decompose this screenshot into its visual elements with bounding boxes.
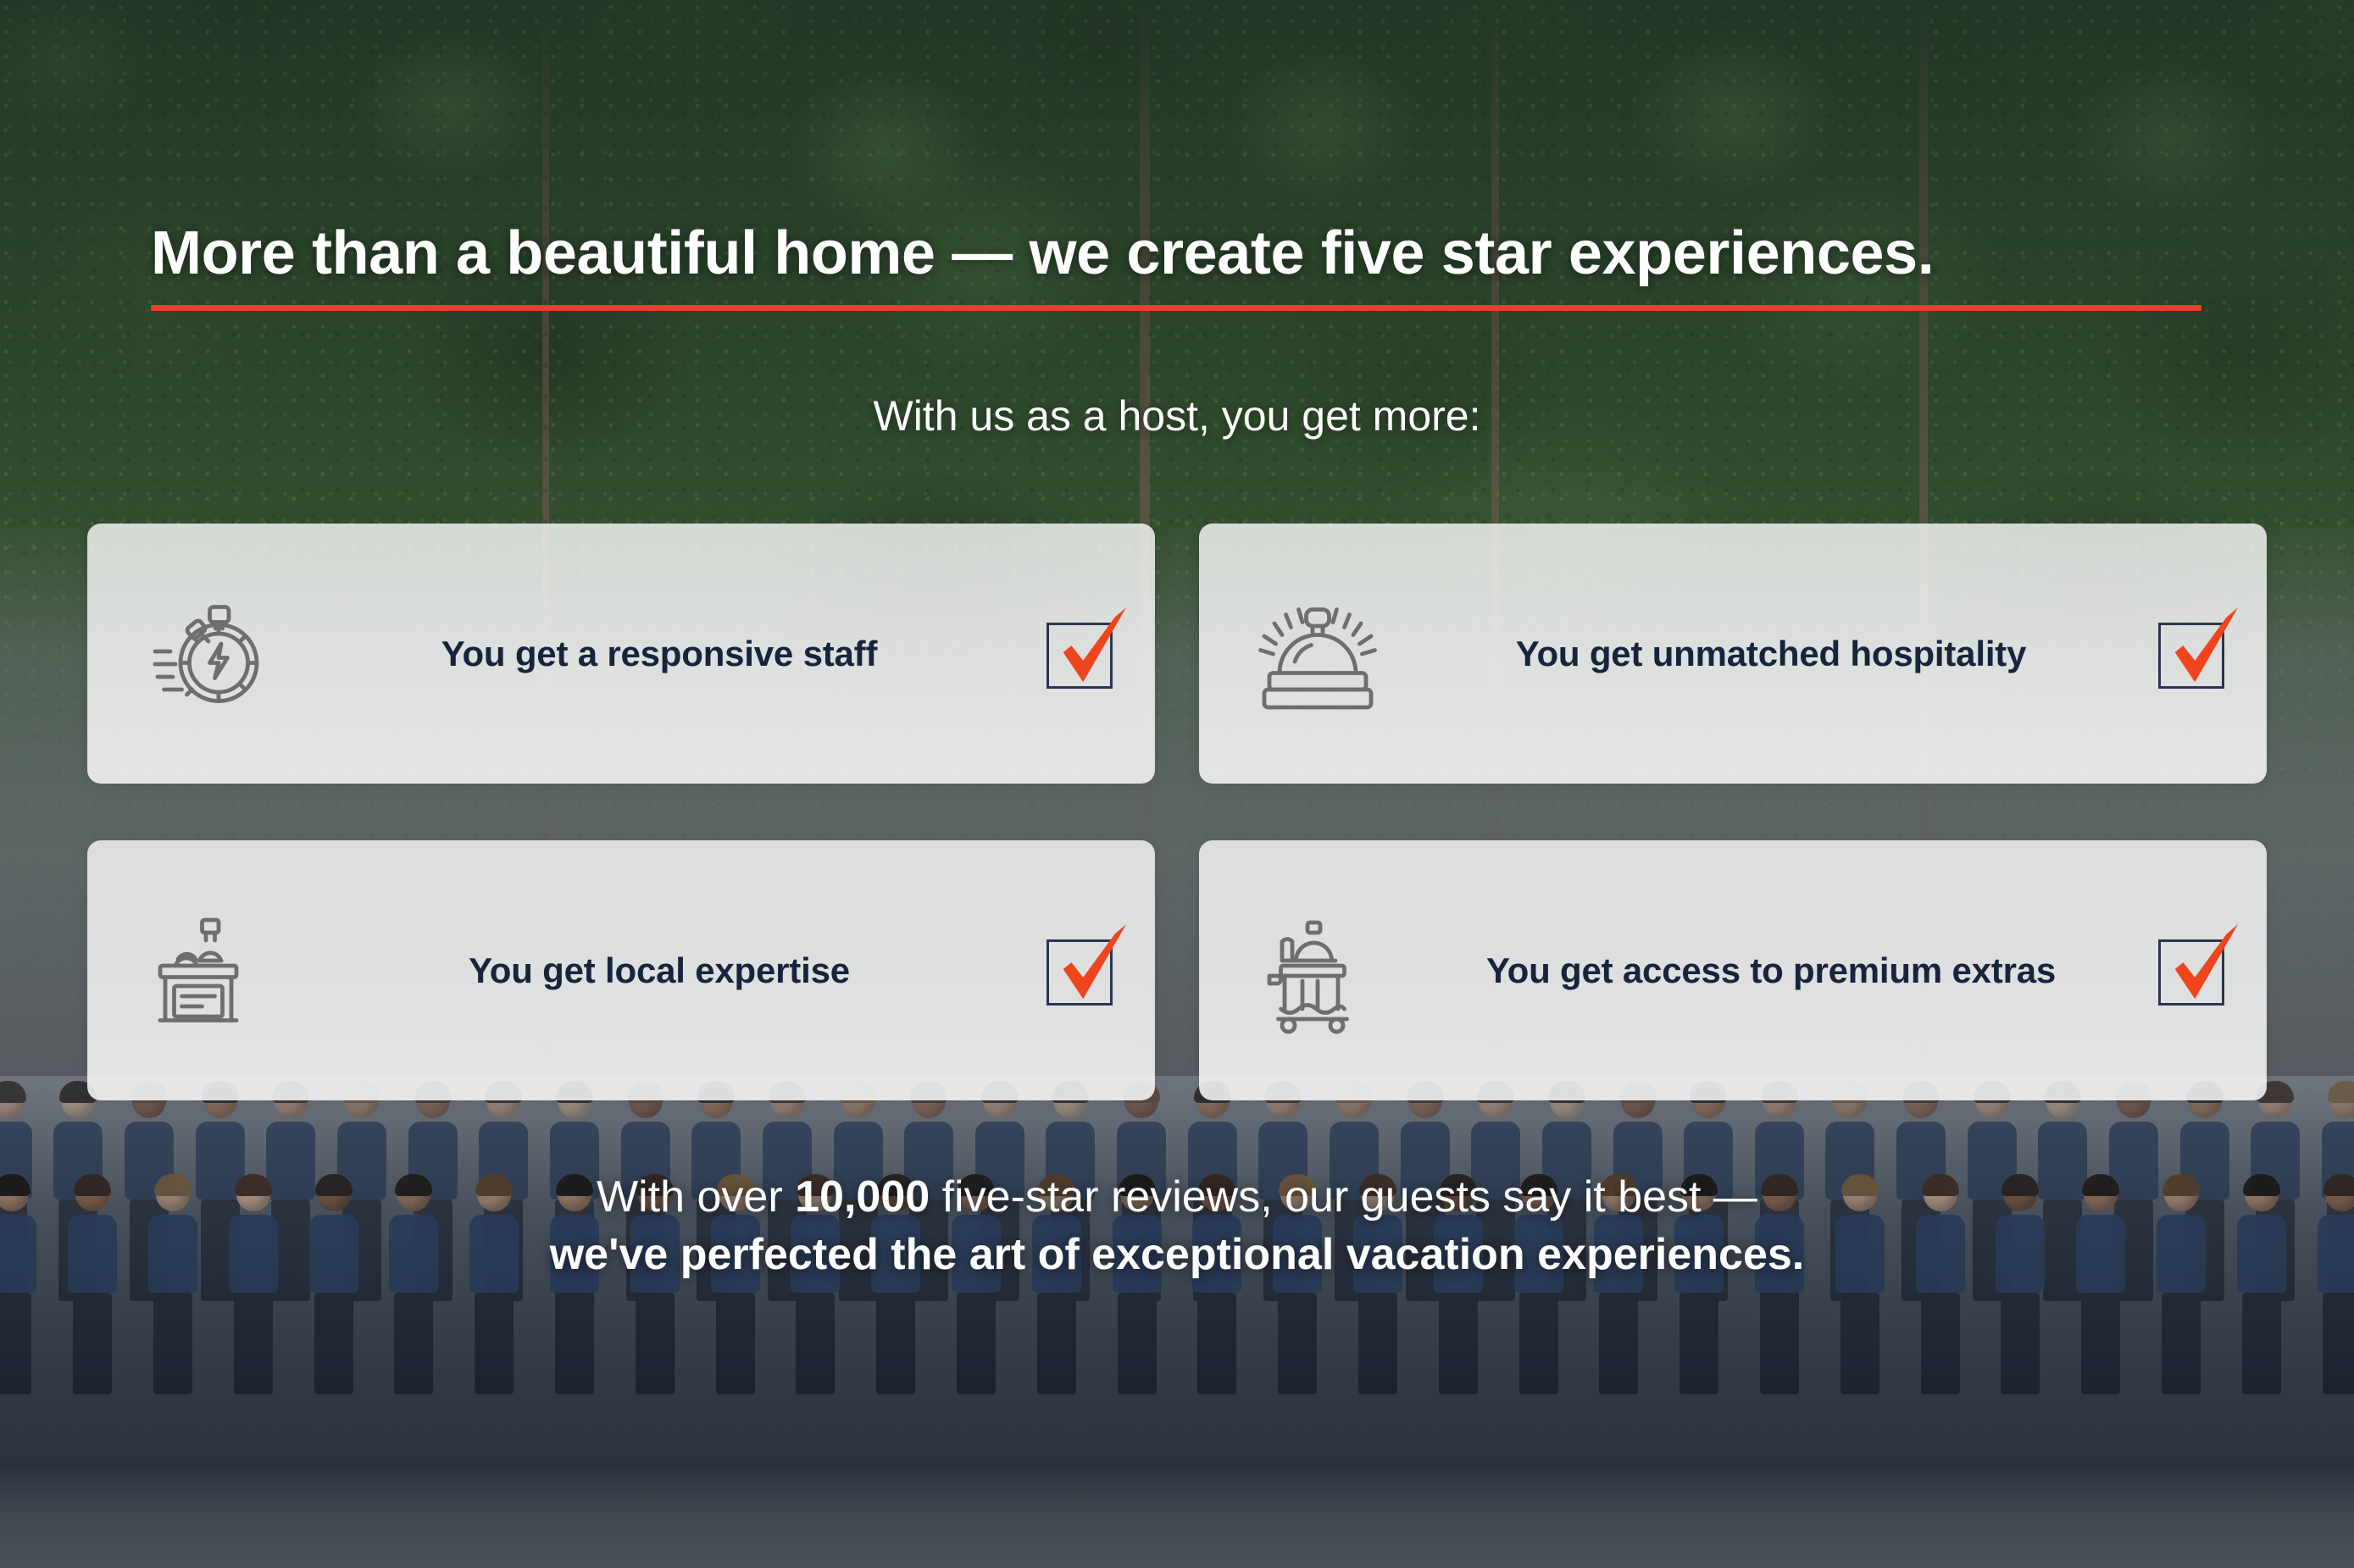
check-icon: [2162, 923, 2245, 1011]
statement-suffix: five-star reviews, our guests say it bes…: [930, 1172, 1757, 1222]
closing-statement: With over 10,000 five-star reviews, our …: [0, 1169, 2354, 1283]
check-icon: [2162, 606, 2245, 694]
statement-prefix: With over: [597, 1172, 795, 1222]
benefit-label: You get a responsive staff: [272, 634, 1047, 674]
service-bell-icon: [1252, 588, 1384, 720]
benefit-label: You get access to premium extras: [1384, 950, 2158, 991]
statement-line-2: we've perfected the art of exceptional v…: [0, 1227, 2354, 1284]
marketing-hero-slide: More than a beautiful home — we create f…: [0, 0, 2354, 1568]
subheading: With us as a host, you get more:: [0, 391, 2354, 440]
slide-content: More than a beautiful home — we create f…: [0, 0, 2354, 1568]
reception-desk-icon: [140, 905, 272, 1037]
review-count: 10,000: [795, 1172, 930, 1222]
check-icon: [1050, 923, 1133, 1011]
checkbox-checked[interactable]: [1047, 934, 1119, 1007]
check-icon: [1050, 606, 1133, 694]
headline-block: More than a beautiful home — we create f…: [151, 222, 2201, 311]
checkbox-checked[interactable]: [2158, 618, 2231, 690]
checkbox-checked[interactable]: [1047, 618, 1119, 690]
benefit-card-unmatched-hospitality[interactable]: You get unmatched hospitality: [1199, 524, 2267, 784]
checkbox-checked[interactable]: [2158, 934, 2231, 1007]
benefit-card-premium-extras[interactable]: You get access to premium extras: [1199, 840, 2267, 1100]
benefit-card-responsive-staff[interactable]: You get a responsive staff: [87, 524, 1155, 784]
statement-line-1: With over 10,000 five-star reviews, our …: [0, 1169, 2354, 1227]
benefit-card-local-expertise[interactable]: You get local expertise: [87, 840, 1155, 1100]
benefit-label: You get local expertise: [272, 950, 1047, 991]
page-title: More than a beautiful home — we create f…: [151, 222, 2201, 286]
benefits-grid: You get a responsive staff: [87, 524, 2267, 1100]
stopwatch-speed-icon: [140, 588, 272, 720]
room-service-cart-icon: [1252, 905, 1384, 1037]
benefit-label: You get unmatched hospitality: [1384, 634, 2158, 674]
headline-accent-rule: [151, 305, 2201, 311]
